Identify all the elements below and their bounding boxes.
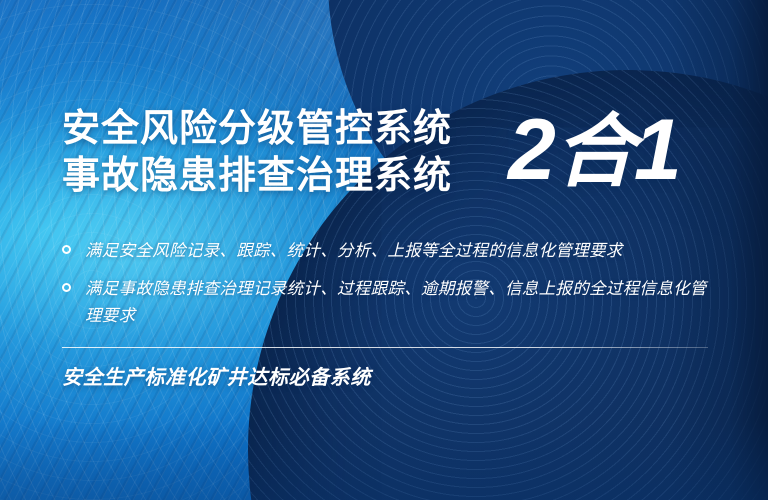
two-in-one-badge: 2合1 [508,98,681,204]
banner-content: 安全风险分级管控系统 事故隐患排查治理系统 2合1 满足安全风险记录、跟踪、统计… [0,0,768,500]
feature-bullet-list: 满足安全风险记录、跟踪、统计、分析、上报等全过程的信息化管理要求 满足事故隐患排… [62,238,714,341]
banner-headline: 安全风险分级管控系统 事故隐患排查治理系统 [62,106,452,200]
hollow-circle-bullet-icon [62,245,71,254]
horizontal-divider [62,347,708,348]
badge-number-left: 2 [508,102,555,198]
headline-line-2: 事故隐患排查治理系统 [62,153,452,200]
badge-number-right: 1 [634,102,681,198]
footer-tagline: 安全生产标准化矿井达标必备系统 [62,363,371,393]
headline-line-1: 安全风险分级管控系统 [62,106,452,153]
badge-character: 合 [555,107,634,196]
bullet-text: 满足事故隐患排查治理记录统计、过程跟踪、逾期报警、信息上报的全过程信息化管理要求 [85,276,714,330]
list-item: 满足安全风险记录、跟踪、统计、分析、上报等全过程的信息化管理要求 [62,238,714,265]
hollow-circle-bullet-icon [62,283,71,292]
bullet-text: 满足安全风险记录、跟踪、统计、分析、上报等全过程的信息化管理要求 [85,238,623,265]
list-item: 满足事故隐患排查治理记录统计、过程跟踪、逾期报警、信息上报的全过程信息化管理要求 [62,276,714,330]
promo-banner: 安全风险分级管控系统 事故隐患排查治理系统 2合1 满足安全风险记录、跟踪、统计… [0,0,768,500]
